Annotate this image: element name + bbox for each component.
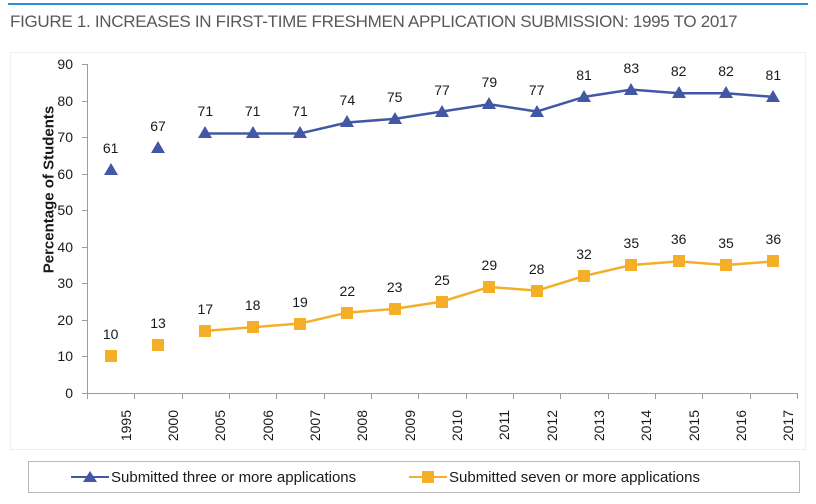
data-point-marker [719, 86, 733, 98]
chart-legend: Submitted three or more applicationsSubm… [28, 461, 800, 493]
x-axis-tick-label: 2014 [638, 410, 654, 441]
data-point-label: 25 [434, 272, 450, 288]
x-axis-tick-label: 2000 [165, 410, 181, 441]
legend-label: Submitted seven or more applications [449, 469, 700, 486]
figure-title: FIGURE 1. INCREASES IN FIRST-TIME FRESHM… [10, 12, 810, 32]
header-rule [8, 3, 808, 5]
legend-triangle-icon [71, 470, 109, 484]
data-point-label: 61 [103, 140, 119, 156]
data-point-marker [766, 90, 780, 102]
data-point-label: 36 [766, 231, 782, 247]
x-axis-tick-label: 2009 [402, 410, 418, 441]
y-axis-tick-label: 10 [57, 348, 73, 364]
data-point-marker [340, 115, 354, 127]
data-point-marker [436, 296, 448, 308]
data-point-label: 22 [340, 283, 356, 299]
x-axis-tick-label: 2005 [212, 410, 228, 441]
y-axis-tick-label: 0 [65, 385, 73, 401]
data-point-marker [246, 126, 260, 138]
legend-entry-1[interactable]: Submitted seven or more applications [409, 462, 700, 492]
data-point-label: 79 [482, 74, 498, 90]
x-axis-tick-label: 2011 [496, 410, 512, 440]
data-point-marker [152, 339, 164, 351]
y-axis-tick-label: 50 [57, 202, 73, 218]
data-point-label: 23 [387, 279, 403, 295]
data-point-label: 10 [103, 326, 119, 342]
legend-entry-0[interactable]: Submitted three or more applications [71, 462, 356, 492]
data-point-label: 28 [529, 261, 545, 277]
data-point-label: 29 [482, 257, 498, 273]
data-point-marker [435, 105, 449, 117]
data-point-marker [247, 321, 259, 333]
data-point-marker [293, 126, 307, 138]
y-axis-tick-label: 20 [57, 312, 73, 328]
y-axis-tick-label: 70 [57, 129, 73, 145]
data-point-label: 77 [529, 82, 545, 98]
data-point-label: 18 [245, 297, 261, 313]
data-point-label: 82 [671, 63, 687, 79]
data-point-label: 75 [387, 89, 403, 105]
data-point-marker [531, 285, 543, 297]
data-point-label: 71 [245, 103, 261, 119]
series-0-line [205, 90, 773, 134]
data-point-label: 81 [576, 67, 592, 83]
legend-square-icon [409, 470, 447, 484]
data-point-label: 77 [434, 82, 450, 98]
data-point-label: 82 [718, 63, 734, 79]
data-point-label: 35 [718, 235, 734, 251]
data-point-marker [673, 255, 685, 267]
y-axis-title: Percentage of Students [41, 90, 58, 290]
data-point-marker [767, 255, 779, 267]
data-point-marker [577, 90, 591, 102]
data-point-marker [672, 86, 686, 98]
y-axis-tick-label: 80 [57, 93, 73, 109]
legend-label: Submitted three or more applications [111, 469, 356, 486]
data-point-marker [341, 307, 353, 319]
data-point-marker [578, 270, 590, 282]
x-axis-tick-label: 2012 [544, 410, 560, 441]
data-point-marker [199, 325, 211, 337]
x-axis-tick-label: 2008 [354, 410, 370, 441]
x-axis-tick-label: 2010 [449, 410, 465, 441]
x-axis-tick-label: 2007 [307, 410, 323, 441]
x-axis-tick-label: 2013 [591, 410, 607, 441]
x-axis-tick-label: 2006 [260, 410, 276, 441]
legend-marker [83, 471, 97, 482]
data-point-marker [388, 112, 402, 124]
data-point-marker [625, 259, 637, 271]
data-point-label: 32 [576, 246, 592, 262]
data-point-label: 17 [198, 301, 214, 317]
data-point-label: 83 [624, 60, 640, 76]
data-point-label: 35 [624, 235, 640, 251]
y-axis-tick-label: 60 [57, 166, 73, 182]
data-point-label: 19 [292, 294, 308, 310]
data-point-label: 67 [150, 118, 166, 134]
data-point-label: 71 [292, 103, 308, 119]
y-axis-tick-label: 30 [57, 275, 73, 291]
data-point-label: 36 [671, 231, 687, 247]
data-point-marker [105, 350, 117, 362]
x-axis-tick [797, 393, 798, 399]
data-point-label: 71 [198, 103, 214, 119]
y-axis-tick-label: 90 [57, 56, 73, 72]
data-point-marker [198, 126, 212, 138]
data-point-label: 74 [340, 92, 356, 108]
x-axis-tick-label: 2017 [780, 410, 796, 441]
x-axis-tick-label: 2016 [733, 410, 749, 441]
x-axis-tick-label: 2015 [686, 410, 702, 441]
data-point-marker [151, 141, 165, 153]
data-point-marker [530, 105, 544, 117]
y-axis-tick-label: 40 [57, 239, 73, 255]
data-point-label: 81 [766, 67, 782, 83]
data-point-marker [389, 303, 401, 315]
data-point-marker [483, 281, 495, 293]
data-point-marker [294, 318, 306, 330]
plot-area: 0102030405060708090 19952000200520062007… [87, 64, 797, 393]
data-point-label: 13 [150, 315, 166, 331]
data-point-marker [104, 163, 118, 175]
data-point-marker [720, 259, 732, 271]
data-point-marker [482, 97, 496, 109]
x-axis-tick-label: 1995 [118, 410, 134, 441]
chart-frame: Percentage of Students 01020304050607080… [10, 52, 806, 450]
legend-marker [422, 471, 434, 483]
data-point-marker [624, 83, 638, 95]
